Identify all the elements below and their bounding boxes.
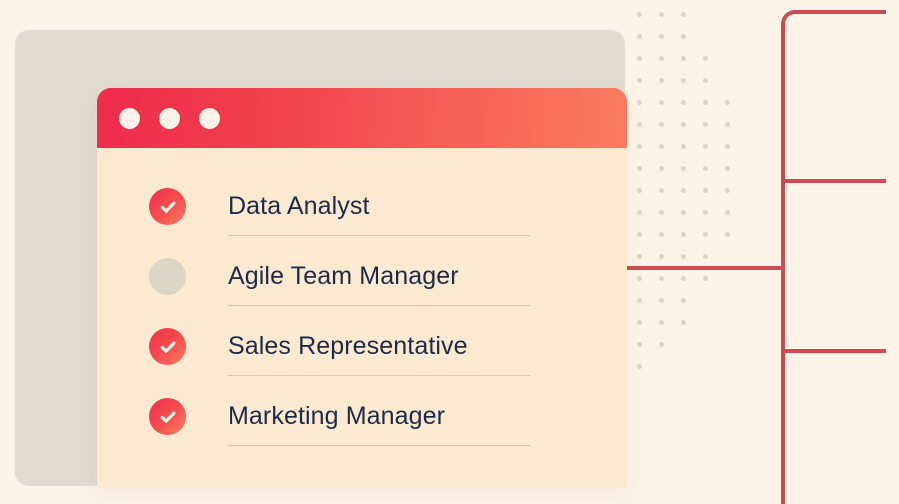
- window-controls: [119, 108, 220, 129]
- circle-empty-icon[interactable]: [149, 258, 186, 295]
- window-dot-maximize-icon[interactable]: [199, 108, 220, 129]
- checklist-row[interactable]: Data Analyst: [97, 172, 627, 242]
- checklist-row[interactable]: Agile Team Manager: [97, 242, 627, 312]
- checklist: Data AnalystAgile Team ManagerSales Repr…: [97, 148, 627, 488]
- window-dot-close-icon[interactable]: [119, 108, 140, 129]
- checklist-row-label: Agile Team Manager: [228, 255, 459, 297]
- checklist-row-label: Data Analyst: [228, 185, 370, 227]
- checklist-row[interactable]: Sales Representative: [97, 312, 627, 382]
- check-circle-filled-icon[interactable]: [149, 398, 186, 435]
- check-circle-filled-icon[interactable]: [149, 328, 186, 365]
- checklist-row-label: Sales Representative: [228, 325, 468, 367]
- checklist-row[interactable]: Marketing Manager: [97, 382, 627, 452]
- checklist-row-divider: [228, 375, 530, 376]
- connector-branch-left: [625, 266, 785, 270]
- connector-branch-top-right: [793, 10, 886, 14]
- checklist-row-divider: [228, 445, 530, 446]
- connector-branch-mid-right: [781, 179, 886, 183]
- connector-vertical-trunk: [781, 22, 785, 504]
- checklist-row-divider: [228, 305, 530, 306]
- checklist-row-label: Marketing Manager: [228, 395, 445, 437]
- browser-window-card: Data AnalystAgile Team ManagerSales Repr…: [97, 88, 627, 488]
- illustration-canvas: Data AnalystAgile Team ManagerSales Repr…: [0, 0, 899, 504]
- check-circle-filled-icon[interactable]: [149, 188, 186, 225]
- window-titlebar: [97, 88, 627, 148]
- connector-branch-lower-right: [781, 349, 886, 353]
- window-dot-minimize-icon[interactable]: [159, 108, 180, 129]
- checklist-row-divider: [228, 235, 530, 236]
